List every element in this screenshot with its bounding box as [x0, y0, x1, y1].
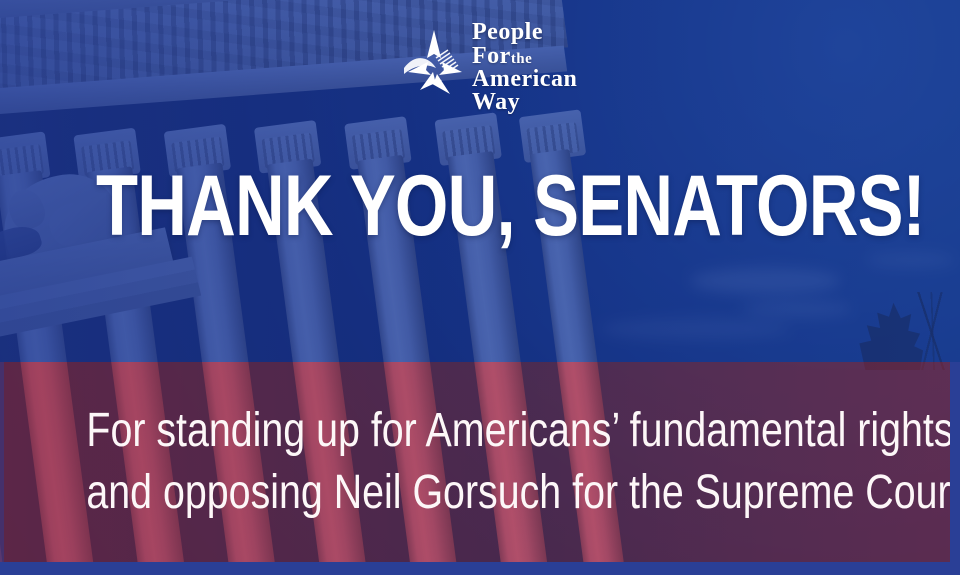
left-frame-edge: [0, 362, 4, 562]
banner-line-2: and opposing Neil Gorsuch for the Suprem…: [86, 462, 873, 524]
eagle-star-icon: [404, 28, 466, 108]
logo-word-the: the: [511, 51, 533, 67]
logo-line-people: People: [472, 21, 577, 44]
organization-logo[interactable]: People Forthe American Way: [404, 22, 589, 114]
logo-line-for-the: Forthe: [472, 45, 577, 68]
bottom-frame-bar: [0, 562, 960, 575]
thank-you-senators-poster: People Forthe American Way THANK YOU, SE…: [0, 0, 960, 575]
logo-word-for: For: [472, 43, 511, 69]
banner-message: For standing up for Americans’ fundament…: [0, 400, 960, 525]
banner-line-1: For standing up for Americans’ fundament…: [86, 400, 873, 462]
logo-line-american: American: [472, 68, 577, 91]
right-frame-edge: [950, 362, 960, 575]
headline: THANK YOU, SENATORS!: [96, 163, 864, 249]
logo-wordmark: People Forthe American Way: [472, 21, 577, 114]
logo-line-way: Way: [472, 91, 577, 114]
